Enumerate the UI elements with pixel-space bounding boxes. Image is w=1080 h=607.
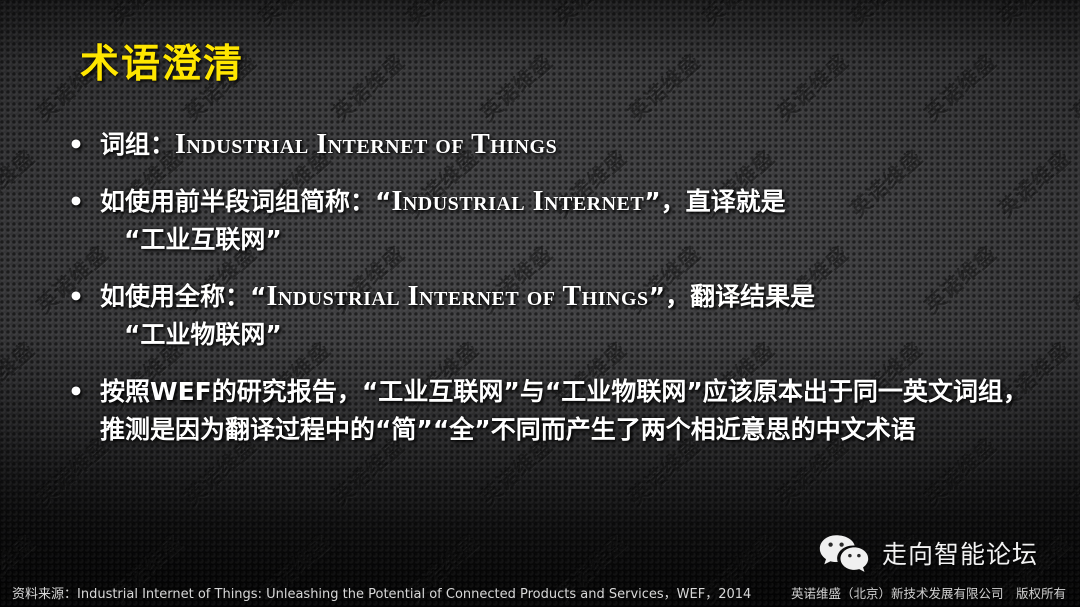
list-item: • 按照WEF的研究报告，“工业互联网”与“工业物联网”应该原本出于同一英文词组… xyxy=(68,373,1028,449)
copyright-notice: 英诺维盛（北京）新技术发展有限公司 版权所有 xyxy=(791,583,1066,602)
wechat-brand: 走向智能论坛 xyxy=(818,533,1038,573)
bullet-marker: • xyxy=(68,183,100,221)
list-item: • 如使用全称：“Industrial Internet of Things”，… xyxy=(68,278,1028,354)
list-item-text: 按照WEF的研究报告，“工业互联网”与“工业物联网”应该原本出于同一英文词组，推… xyxy=(100,373,1028,449)
bullet-text-suffix: ”，翻译结果是 xyxy=(649,282,815,311)
bullet-marker: • xyxy=(68,126,100,164)
bullet-text-suffix: ”，直译就是 xyxy=(644,187,785,216)
bullet-text-line2: “工业物联网” xyxy=(100,316,1028,354)
list-item: • 如使用前半段词组简称：“Industrial Internet”，直译就是 … xyxy=(68,183,1028,259)
list-item-text: 词组：Industrial Internet of Things xyxy=(100,126,1028,164)
bullet-text-smallcaps: Industrial Internet xyxy=(391,186,644,217)
list-item-text: 如使用前半段词组简称：“Industrial Internet”，直译就是 “工… xyxy=(100,183,1028,259)
list-item: • 词组：Industrial Internet of Things xyxy=(68,126,1028,164)
wechat-label: 走向智能论坛 xyxy=(882,535,1038,571)
source-citation: 资料来源：Industrial Internet of Things: Unle… xyxy=(12,583,751,602)
bullet-text-prefix: 如使用前半段词组简称：“ xyxy=(100,187,391,216)
bullet-marker: • xyxy=(68,373,100,411)
bullet-text-smallcaps: Industrial Internet of Things xyxy=(266,281,648,312)
bullet-text-line2: “工业互联网” xyxy=(100,221,1028,259)
slide-canvas: 英诺维盛英诺维盛英诺维盛英诺维盛英诺维盛英诺维盛英诺维盛英诺维盛英诺维盛英诺维盛… xyxy=(0,0,1080,607)
page-title: 术语澄清 xyxy=(80,33,244,89)
slide-footer: 资料来源：Industrial Internet of Things: Unle… xyxy=(0,577,1080,607)
list-item-text: 如使用全称：“Industrial Internet of Things”，翻译… xyxy=(100,278,1028,354)
bullet-marker: • xyxy=(68,278,100,316)
bullet-list: • 词组：Industrial Internet of Things • 如使用… xyxy=(68,126,1028,468)
bullet-text-prefix: 如使用全称：“ xyxy=(100,282,266,311)
wechat-icon xyxy=(818,533,870,573)
slide-content: 术语澄清 • 词组：Industrial Internet of Things … xyxy=(0,0,1080,607)
bullet-text-smallcaps: Industrial Internet of Things xyxy=(175,129,557,160)
bullet-text-prefix: 词组： xyxy=(100,130,175,159)
